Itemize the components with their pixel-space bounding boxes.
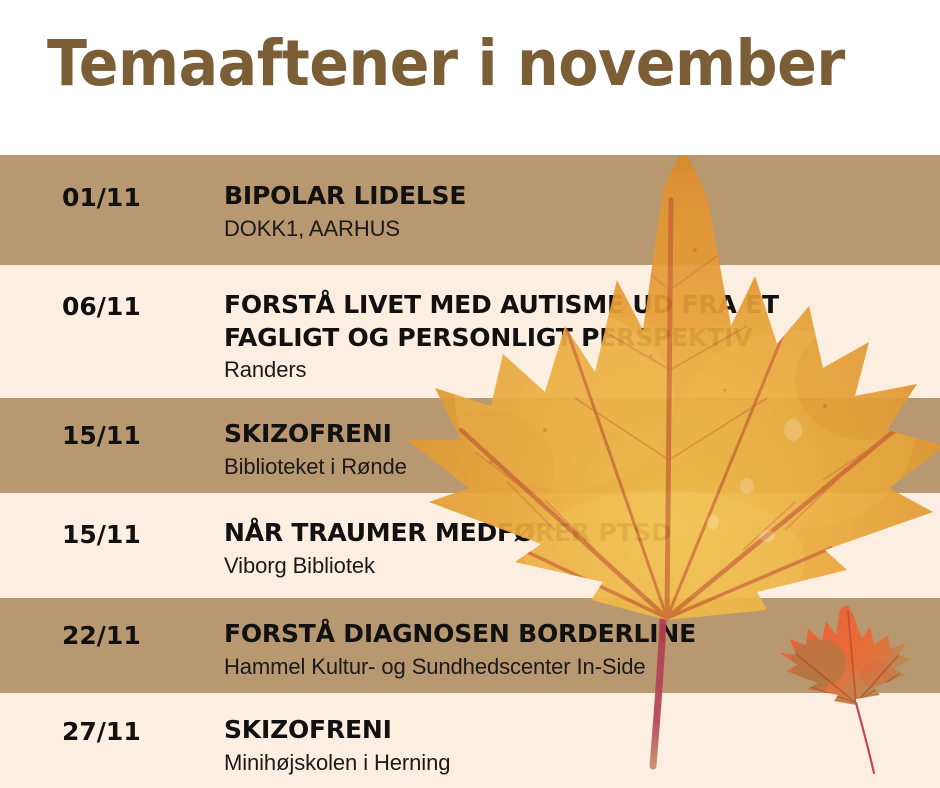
schedule-row: 27/11 SKIZOFRENI Minihøjskolen i Herning	[0, 693, 940, 788]
row-venue: Viborg Bibliotek	[224, 552, 930, 580]
row-body: SKIZOFRENI Biblioteket i Rønde	[224, 418, 930, 480]
row-date: 06/11	[62, 292, 141, 321]
row-venue: Hammel Kultur- og Sundhedscenter In-Side	[224, 653, 930, 681]
row-title: NÅR TRAUMER MEDFØRER PTSD	[224, 517, 930, 550]
row-title: FORSTÅ LIVET MED AUTISME UD FRA ET FAGLI…	[224, 289, 930, 354]
row-body: FORSTÅ LIVET MED AUTISME UD FRA ET FAGLI…	[224, 289, 930, 384]
row-date: 15/11	[62, 520, 141, 549]
poster-canvas: 01/11 BIPOLAR LIDELSE DOKK1, AARHUS 06/1…	[0, 0, 940, 788]
row-venue: Minihøjskolen i Herning	[224, 749, 930, 777]
schedule-row: 15/11 SKIZOFRENI Biblioteket i Rønde	[0, 398, 940, 493]
row-date: 01/11	[62, 183, 141, 212]
schedule-list: 01/11 BIPOLAR LIDELSE DOKK1, AARHUS 06/1…	[0, 155, 940, 788]
row-title: SKIZOFRENI	[224, 714, 930, 747]
schedule-row: 15/11 NÅR TRAUMER MEDFØRER PTSD Viborg B…	[0, 493, 940, 598]
row-title: FORSTÅ DIAGNOSEN BORDERLINE	[224, 618, 930, 651]
row-date: 15/11	[62, 421, 141, 450]
row-title: BIPOLAR LIDELSE	[224, 180, 930, 213]
row-date: 22/11	[62, 621, 141, 650]
row-venue: DOKK1, AARHUS	[224, 215, 930, 243]
row-title: SKIZOFRENI	[224, 418, 930, 451]
schedule-row: 01/11 BIPOLAR LIDELSE DOKK1, AARHUS	[0, 155, 940, 265]
schedule-row: 22/11 FORSTÅ DIAGNOSEN BORDERLINE Hammel…	[0, 598, 940, 693]
row-body: NÅR TRAUMER MEDFØRER PTSD Viborg Bibliot…	[224, 517, 930, 579]
row-venue: Biblioteket i Rønde	[224, 453, 930, 481]
schedule-row: 06/11 FORSTÅ LIVET MED AUTISME UD FRA ET…	[0, 265, 940, 398]
poster-header: Temaaftener i november	[0, 0, 940, 155]
row-date: 27/11	[62, 717, 141, 746]
row-body: SKIZOFRENI Minihøjskolen i Herning	[224, 714, 930, 776]
row-venue: Randers	[224, 356, 930, 384]
row-body: FORSTÅ DIAGNOSEN BORDERLINE Hammel Kultu…	[224, 618, 930, 680]
row-body: BIPOLAR LIDELSE DOKK1, AARHUS	[224, 180, 930, 242]
page-title: Temaaftener i november	[47, 28, 845, 100]
